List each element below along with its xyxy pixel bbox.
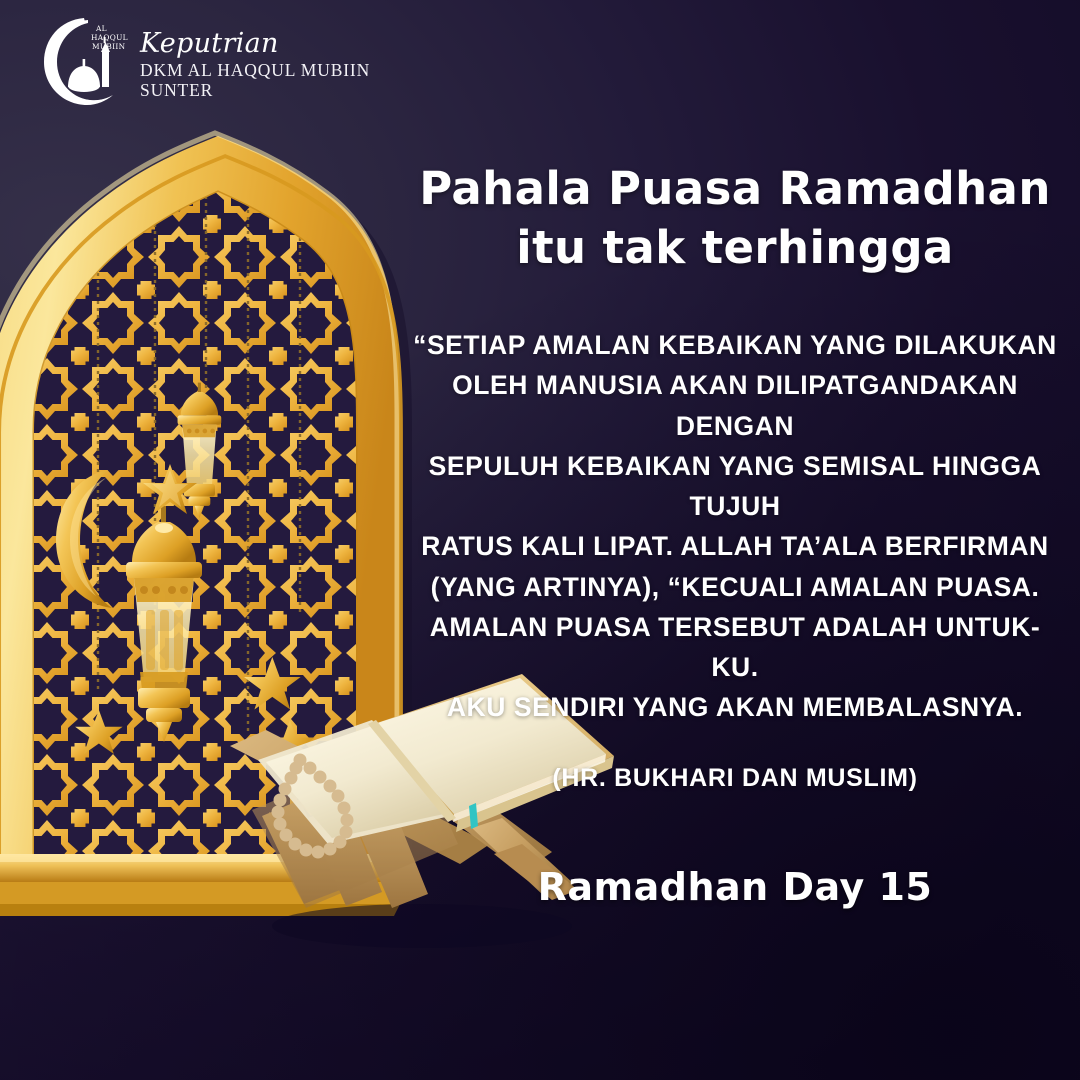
page-title: Pahala Puasa Ramadhan itu tak terhingga xyxy=(410,160,1060,277)
svg-text:AL: AL xyxy=(95,24,107,33)
crescent-mosque-icon: AL HAQQUL MUBIIN xyxy=(40,14,134,108)
brand-script-name: Keputrian xyxy=(140,30,370,57)
brand-org-name: DKM AL HAQQUL MUBIIN SUNTER xyxy=(140,60,370,101)
svg-text:MUBIIN: MUBIIN xyxy=(92,42,126,51)
poster-canvas: AL HAQQUL MUBIIN Keputrian DKM AL HAQQUL… xyxy=(0,0,1080,1080)
hadith-quote: “SETIAP AMALAN KEBAIKAN YANG DILAKUKAN O… xyxy=(410,325,1060,728)
ramadhan-day-label: Ramadhan Day 15 xyxy=(410,865,1060,909)
svg-text:HAQQUL: HAQQUL xyxy=(91,33,128,42)
brand-logo: AL HAQQUL MUBIIN Keputrian DKM AL HAQQUL… xyxy=(40,14,370,108)
hadith-source: (HR. BUKHARI DAN MUSLIM) xyxy=(410,764,1060,793)
text-content: Pahala Puasa Ramadhan itu tak terhingga … xyxy=(410,160,1060,909)
